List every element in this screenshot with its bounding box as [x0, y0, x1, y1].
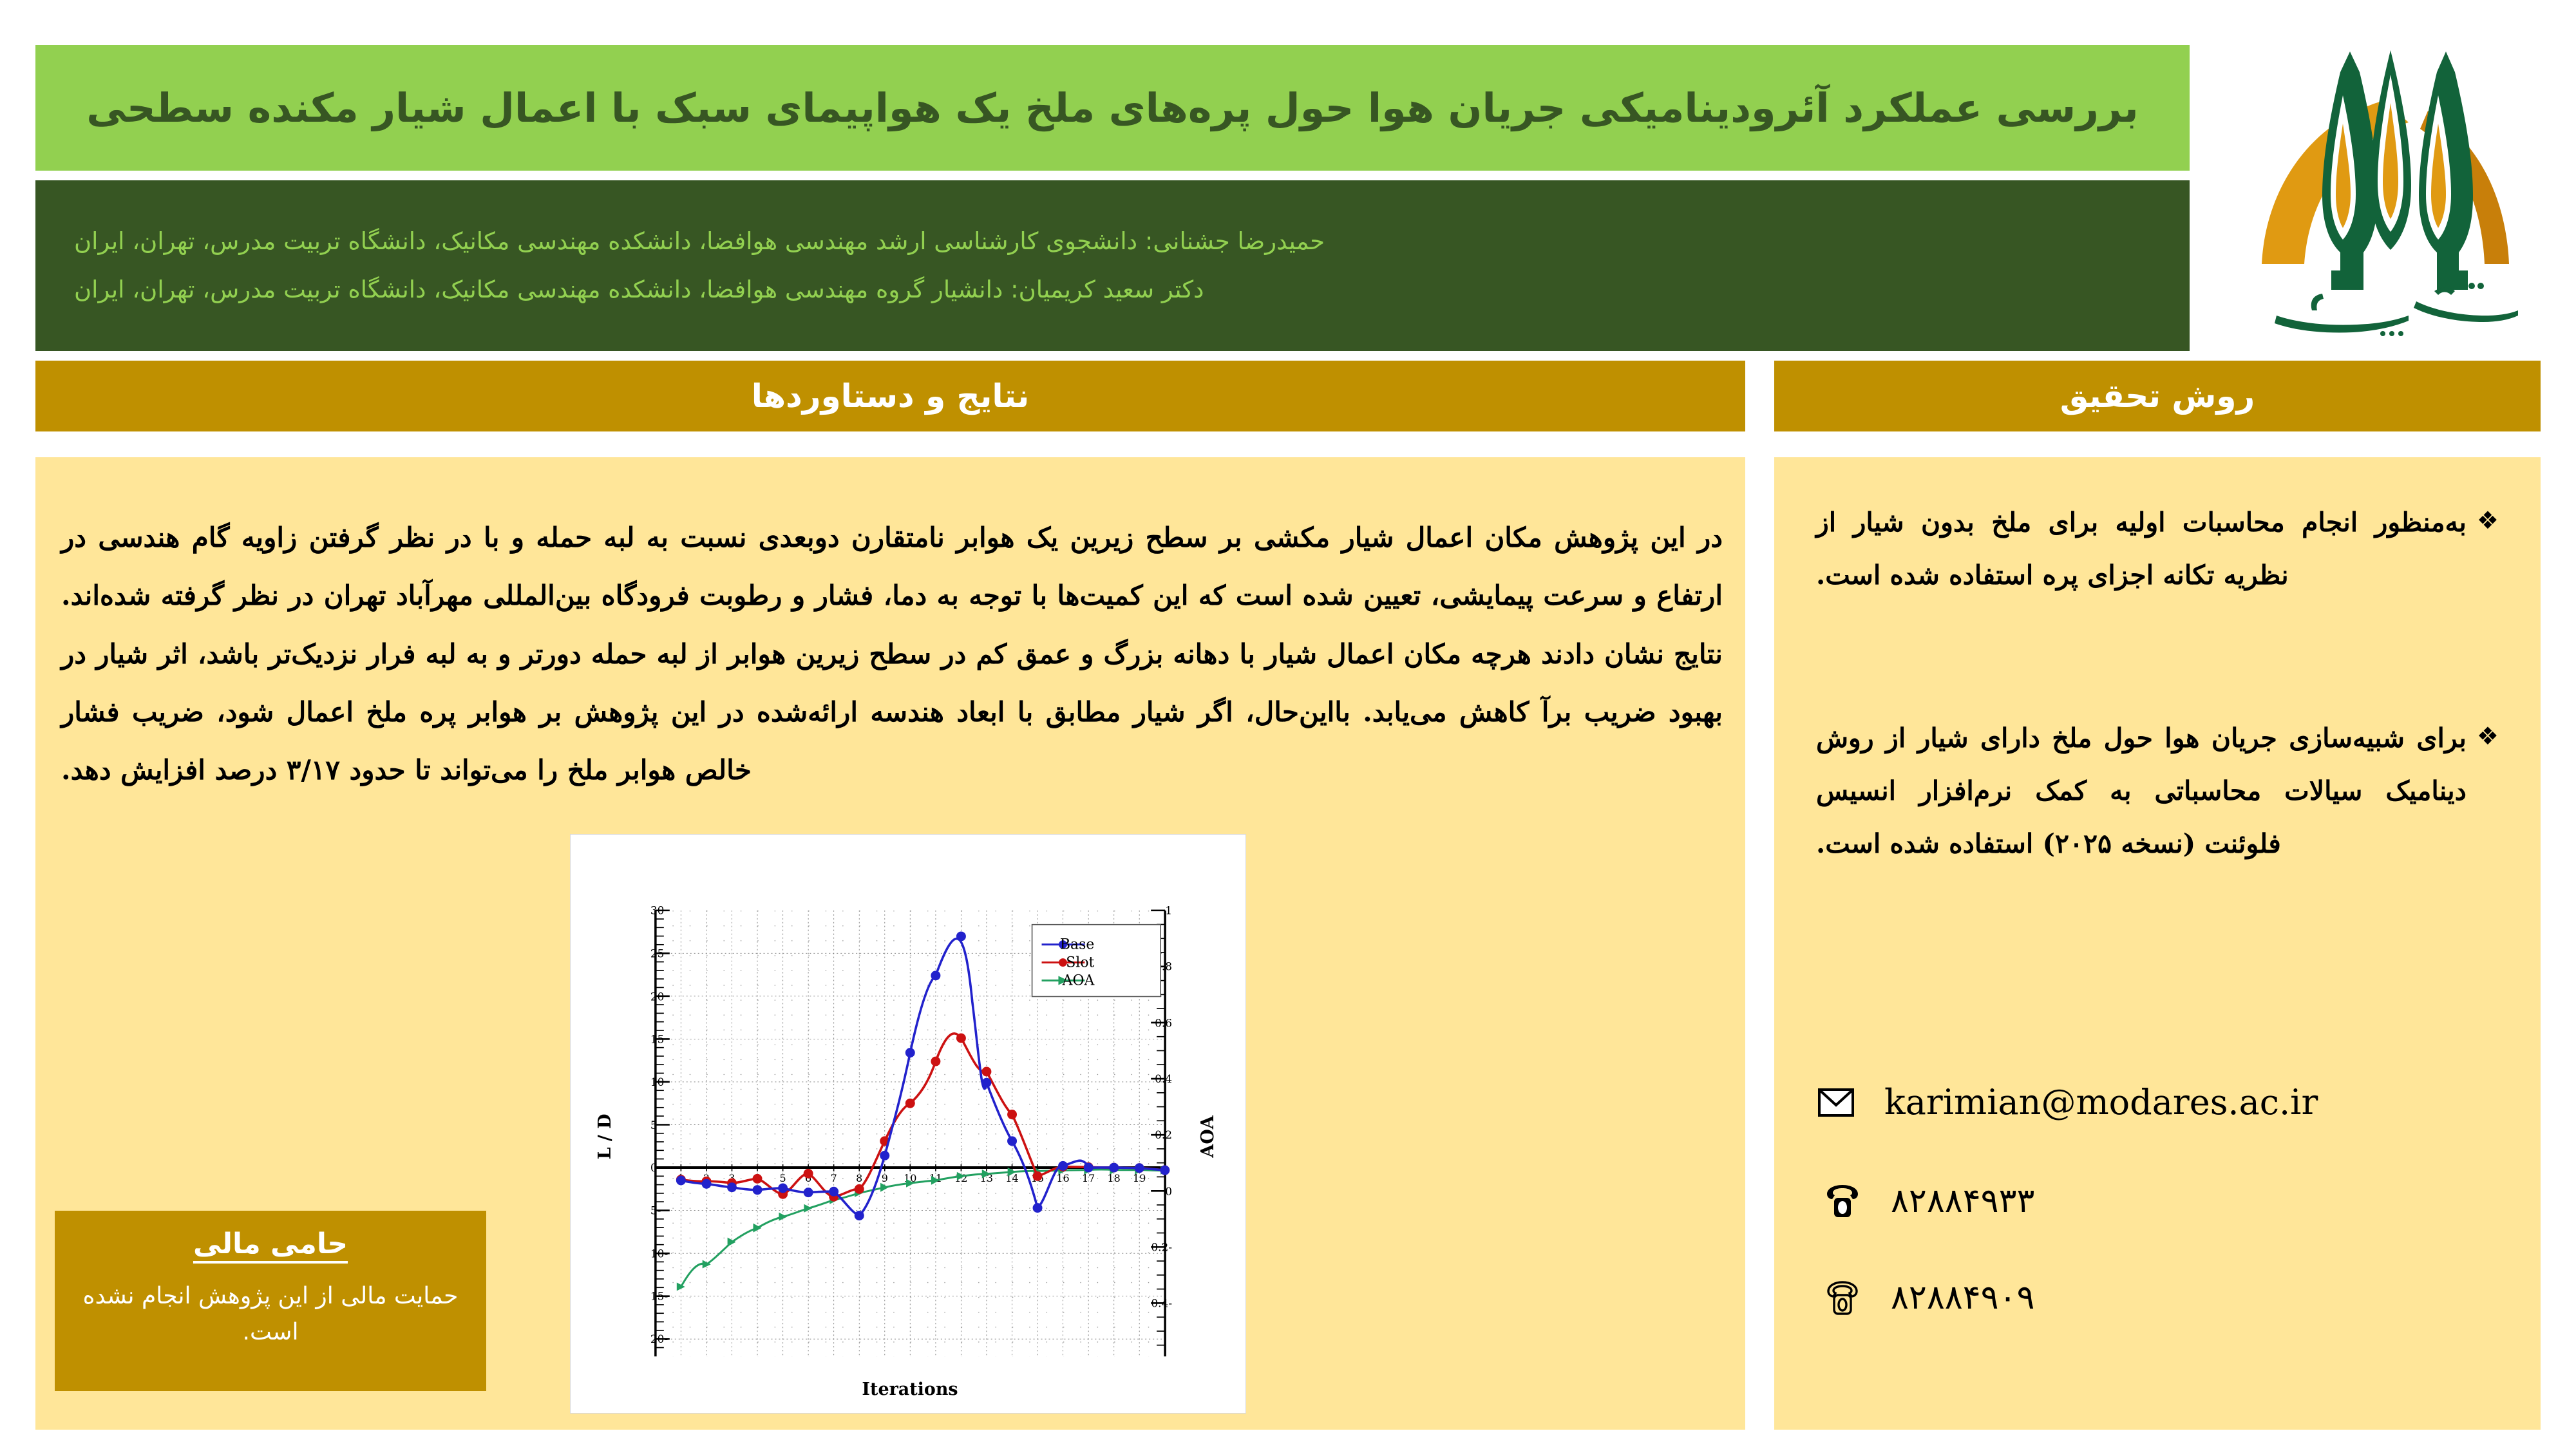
svg-text:5: 5: [780, 1172, 786, 1184]
fax-icon: [1823, 1280, 1862, 1316]
svg-text:30: 30: [650, 904, 665, 917]
svg-text:9: 9: [882, 1172, 888, 1184]
svg-text:-10: -10: [650, 1247, 668, 1260]
chart-legend: Base Slot AOA: [1032, 925, 1161, 997]
contact-email-row[interactable]: karimian@modares.ac.ir: [1816, 1082, 2318, 1122]
svg-text:10: 10: [650, 1075, 665, 1088]
bullet-diamond-icon: ❖: [2477, 712, 2499, 759]
legend-label-slot: Slot: [1066, 955, 1094, 971]
page-title: بررسی عملکرد آئرودینامیکی جریان هوا حول …: [86, 83, 2139, 133]
svg-text:25: 25: [650, 947, 665, 960]
svg-text:0: 0: [1165, 1185, 1172, 1198]
author-line-2: دکتر سعید کریمیان: دانشیار گروه مهندسی ه…: [74, 274, 1204, 305]
svg-text:-0.4: -0.4: [1151, 1296, 1172, 1309]
envelope-icon: [1816, 1084, 1856, 1121]
sponsor-body: حمایت مالی از این پژوهش انجام نشده است.: [74, 1278, 467, 1350]
svg-text:19: 19: [1133, 1172, 1146, 1184]
sponsor-title: حامی مالی: [74, 1227, 467, 1262]
svg-text:0.6: 0.6: [1155, 1016, 1172, 1029]
svg-text:0.4: 0.4: [1155, 1072, 1172, 1085]
svg-text:16: 16: [1056, 1172, 1069, 1184]
svg-text:5: 5: [650, 1119, 658, 1132]
chart-ylabel: L / D: [595, 1114, 615, 1160]
svg-text:-20: -20: [650, 1332, 668, 1345]
svg-text:15: 15: [650, 1032, 665, 1045]
sponsor-box: حامی مالی حمایت مالی از این پژوهش انجام …: [55, 1211, 486, 1391]
contact-phone-text: ۸۲۸۸۴۹۳۳: [1891, 1182, 2034, 1220]
svg-text:8: 8: [856, 1172, 862, 1184]
section-header-results: نتایج و دستاوردها: [35, 361, 1745, 431]
contact-phone-row: ۸۲۸۸۴۹۳۳: [1823, 1182, 2034, 1220]
section-header-method-label: روش تحقیق: [2060, 380, 2255, 412]
svg-text:-15: -15: [650, 1289, 668, 1302]
tarbiat-modares-logo-icon: [2215, 13, 2566, 351]
telephone-icon: [1823, 1183, 1862, 1219]
svg-text:0.2: 0.2: [1155, 1128, 1172, 1141]
svg-text:7: 7: [831, 1172, 837, 1184]
chart-y2label: AOA: [1198, 1115, 1218, 1158]
method-bullet-1-text: به‌منظور انجام محاسبات اولیه برای ملخ بد…: [1816, 496, 2467, 601]
svg-text:1: 1: [1165, 904, 1172, 917]
method-bullet-1: ❖ به‌منظور انجام محاسبات اولیه برای ملخ …: [1816, 496, 2499, 601]
poster-title-band: بررسی عملکرد آئرودینامیکی جریان هوا حول …: [35, 45, 2190, 171]
svg-text:18: 18: [1108, 1172, 1121, 1184]
svg-text:0: 0: [650, 1161, 658, 1174]
bullet-diamond-icon: ❖: [2477, 496, 2499, 544]
contact-email-text[interactable]: karimian@modares.ac.ir: [1884, 1082, 2318, 1122]
legend-label-base: Base: [1060, 937, 1094, 953]
method-bullet-2: ❖ برای شبیه‌سازی جریان هوا حول ملخ دارای…: [1816, 712, 2499, 870]
contact-fax-text: ۸۲۸۸۴۹۰۹: [1891, 1278, 2034, 1317]
university-logo: [2215, 13, 2566, 351]
svg-text:-0.2: -0.2: [1151, 1241, 1172, 1254]
authors-band: حمیدرضا جشنانی: دانشجوی کارشناسی ارشد مه…: [35, 180, 2190, 351]
legend-label-aoa: AOA: [1062, 972, 1095, 989]
chart-xlabel: Iterations: [862, 1379, 958, 1399]
svg-text:17: 17: [1082, 1172, 1095, 1184]
section-header-results-label: نتایج و دستاوردها: [752, 380, 1030, 412]
poster-root: بررسی عملکرد آئرودینامیکی جریان هوا حول …: [0, 0, 2576, 1449]
section-header-method: روش تحقیق: [1774, 361, 2541, 431]
method-bullet-2-text: برای شبیه‌سازی جریان هوا حول ملخ دارای ش…: [1816, 712, 2467, 870]
chart-svg: 30 25 20 15 10 5 0 -5 -10 -15 -20: [571, 835, 1245, 1413]
author-line-1: حمیدرضا جشنانی: دانشجوی کارشناسی ارشد مه…: [74, 226, 1325, 257]
svg-text:-5: -5: [650, 1204, 661, 1217]
svg-text:20: 20: [650, 990, 665, 1003]
contact-fax-row: ۸۲۸۸۴۹۰۹: [1823, 1278, 2034, 1317]
results-paragraph: در این پژوهش مکان اعمال شیار مکشی بر سطح…: [61, 509, 1723, 799]
performance-chart: 30 25 20 15 10 5 0 -5 -10 -15 -20: [570, 834, 1246, 1414]
